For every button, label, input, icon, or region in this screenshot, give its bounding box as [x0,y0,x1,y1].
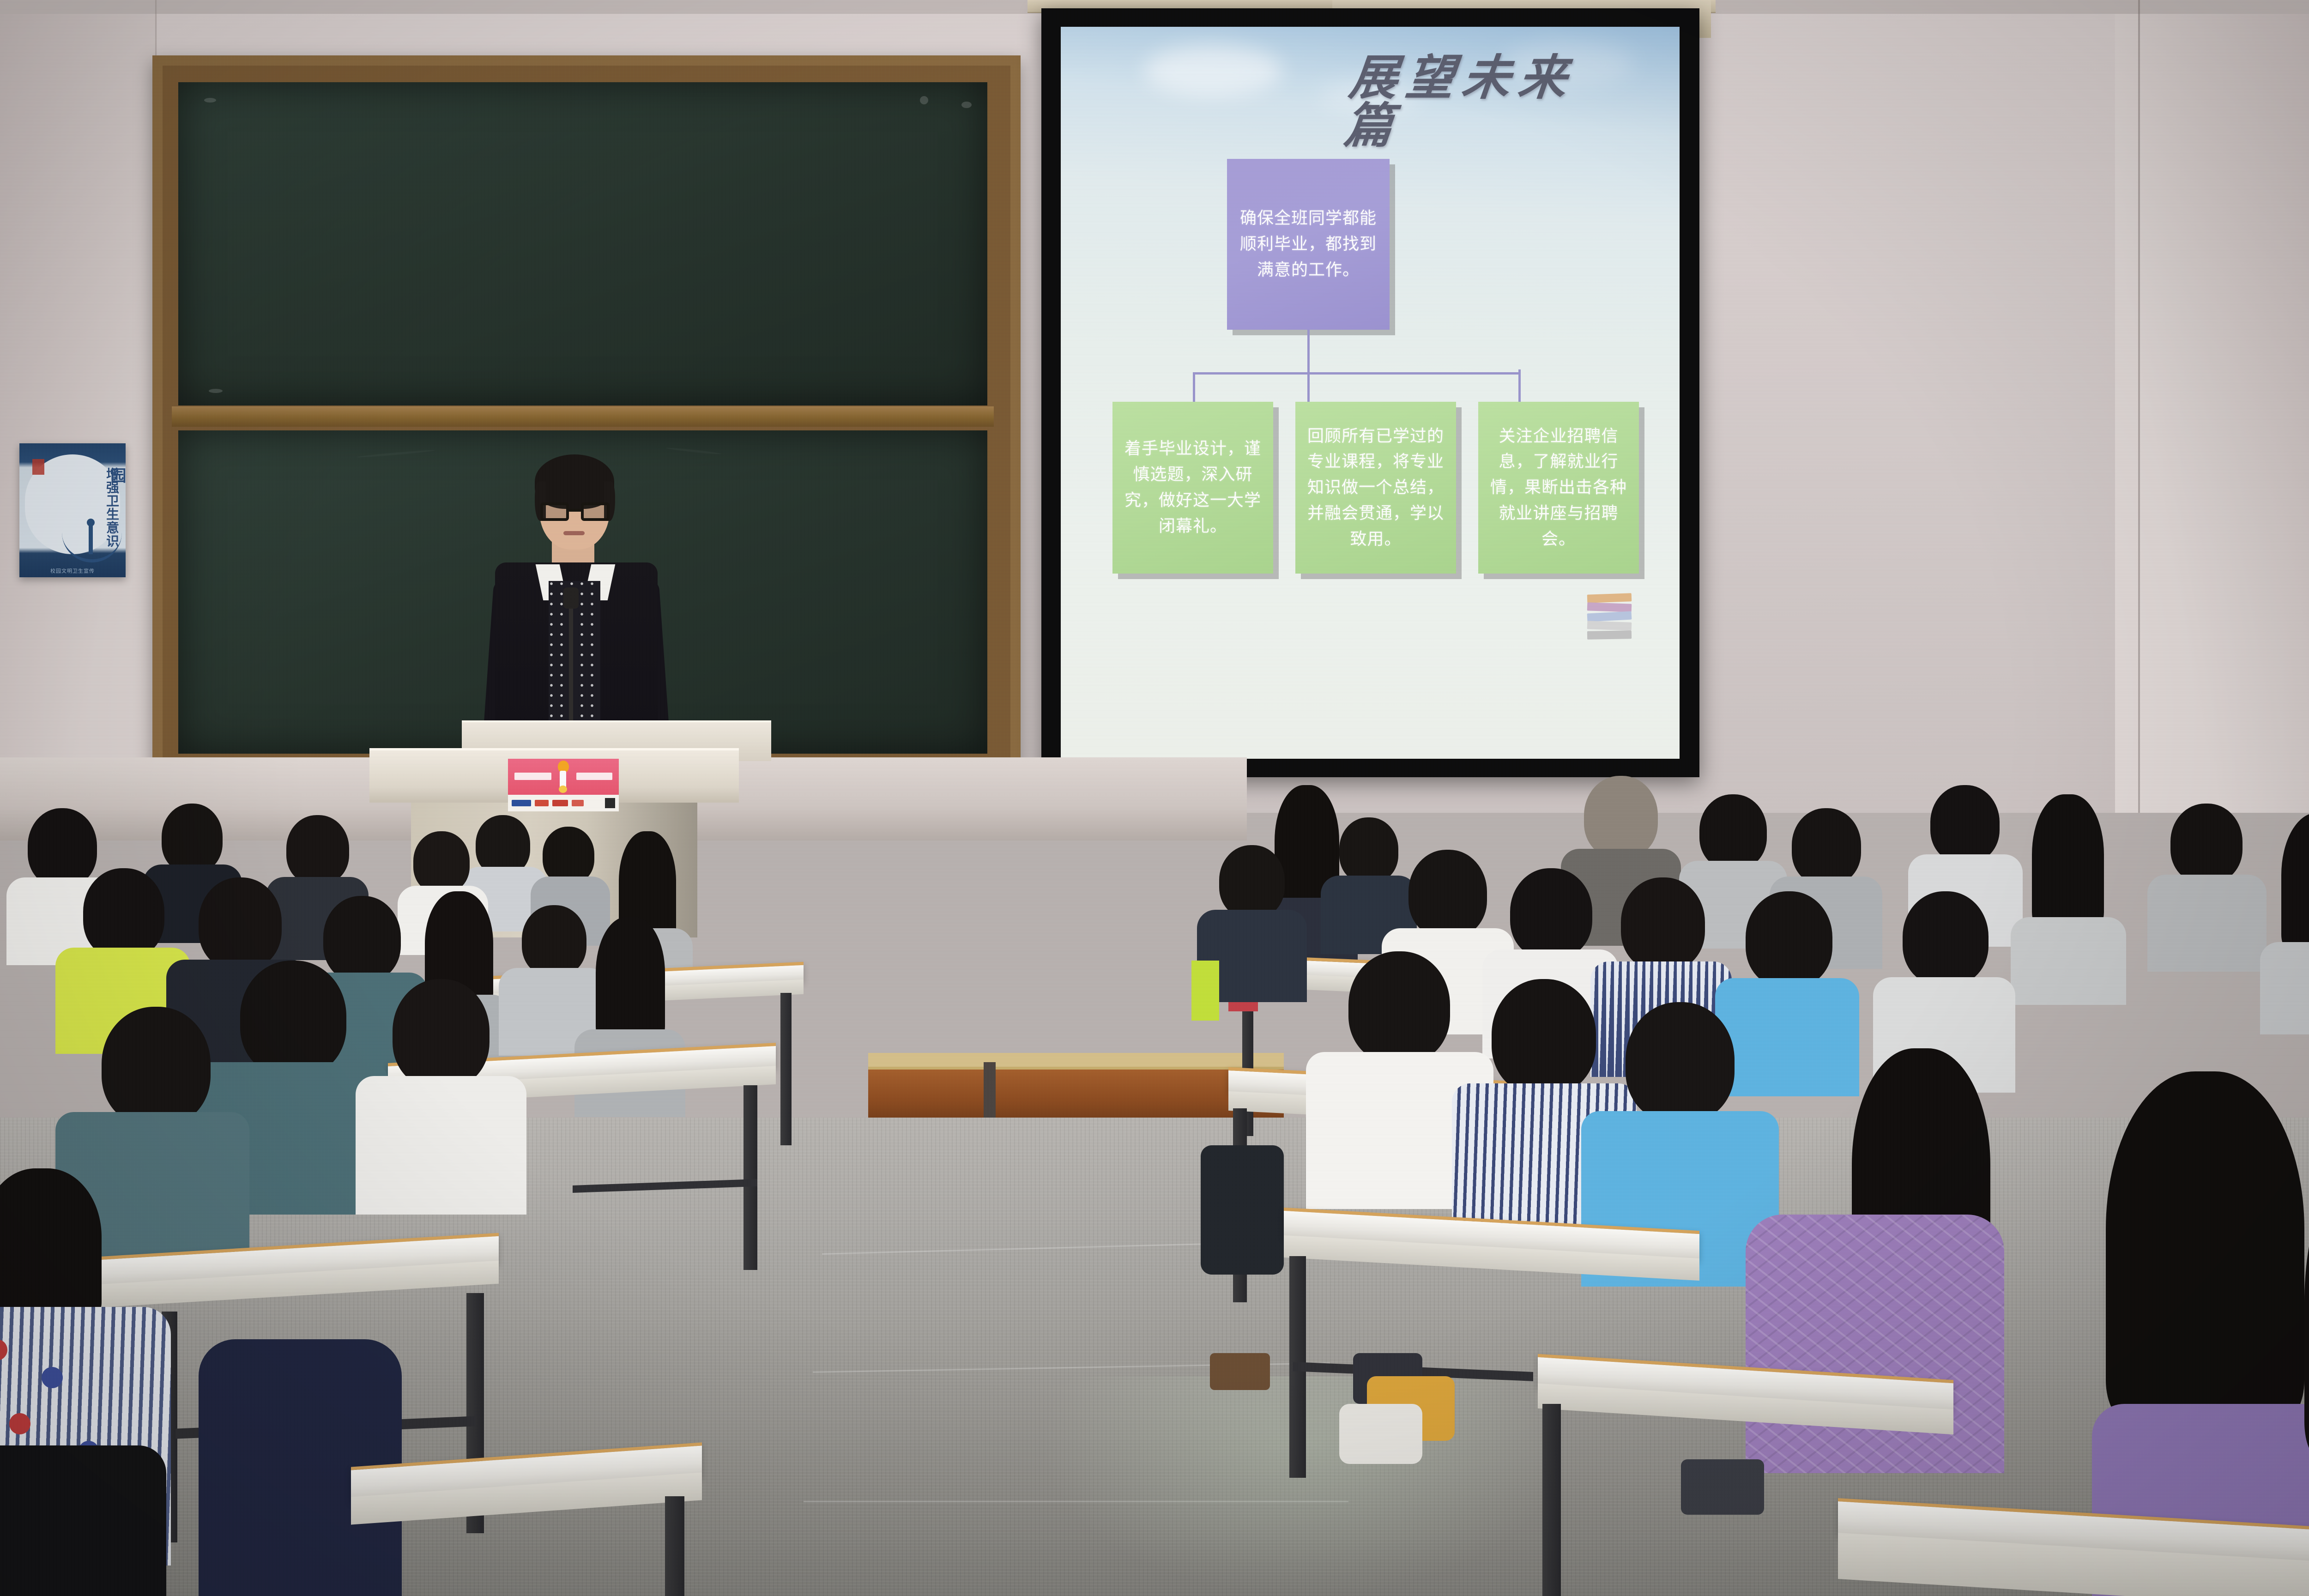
microphone-stem [569,596,573,734]
lecture-hall-scene: 建设文明校园 增强卫生意识 校园文明卫生宣传 展望未来篇 确保全班同学都能顺利毕… [0,0,2309,1596]
head [240,961,346,1076]
shoe-white [1339,1404,1422,1464]
lectern-sponsor-strip [508,795,619,811]
poster-subheadline: 增强卫生意识 [45,467,119,555]
banner-text-left [514,773,551,780]
head [522,905,586,976]
chalk-mark [920,96,928,104]
glasses-bridge [569,509,581,512]
backpack [1201,1145,1284,1275]
slide-child-node-2: 回顾所有已学过的专业课程，将专业知识做一个总结，并融会贯通，学以致用。 [1295,402,1456,574]
desk-leg [780,993,792,1145]
sponsor-chip [535,800,549,806]
head [1621,877,1705,971]
head [476,815,530,875]
lectern-banner [508,759,619,795]
slide-root-node: 确保全班同学都能顺利毕业，都找到满意的工作。 [1227,159,1390,330]
bag-on-floor [1681,1459,1764,1515]
lectern-desktop [369,748,739,803]
head [102,1007,211,1126]
torso [0,1445,166,1596]
wall-seam-right [2138,0,2140,813]
book-layer [1587,630,1632,640]
head [1408,850,1487,937]
sponsor-chip [572,800,584,806]
head [1492,979,1596,1094]
presenter-mouth [563,531,585,535]
desk-leg [743,1085,757,1270]
chalk-mark [209,389,223,393]
presenter-hair [535,454,614,509]
head [286,815,349,884]
shirt-motif [9,1413,30,1434]
cloud-shape [1144,45,1282,96]
projection-screen-surface: 展望未来篇 确保全班同学都能顺利毕业，都找到满意的工作。 着手毕业设计，谨慎选题… [1061,27,1680,759]
stage-panel-divider [984,1062,996,1127]
shirt-motif [42,1367,63,1388]
head [1746,891,1832,987]
torso [356,1076,526,1215]
glasses-lens-left [540,502,569,521]
head [543,827,594,884]
slide-child-node-3: 关注企业招聘信息，了解就业行情，果断出击各种就业讲座与招聘会。 [1478,402,1639,574]
head [1339,817,1398,883]
torso [2260,942,2309,1034]
hair [2106,1071,2304,1422]
hair [0,1168,102,1321]
head [1510,868,1592,959]
slide-title: 展望未来篇 [1342,54,1611,150]
banner-text-right [576,773,612,780]
book-layer [1587,593,1632,603]
qr-code-icon [605,798,615,808]
blackboard-upper-panel [178,82,987,405]
hair [2281,813,2309,951]
book-layer [1587,621,1632,630]
poster-seal-icon [32,459,44,475]
shoe-brown [1210,1353,1270,1390]
book-layer [1587,602,1632,612]
head [1930,785,2000,863]
presenter [471,457,683,734]
connector-drop-left [1193,372,1195,403]
connector-horizontal [1193,372,1521,375]
head [162,804,223,873]
head [1903,891,1989,985]
glasses-lens-right [581,502,610,521]
connector-drop-right [1518,369,1521,403]
head [199,877,282,970]
poster-footer: 校园文明卫生宣传 [19,567,126,574]
torso [1715,978,1859,1096]
head [83,868,164,959]
head [1626,1002,1735,1122]
wall-poster: 建设文明校园 增强卫生意识 校园文明卫生宣传 [19,443,126,577]
head-balding [1584,776,1658,858]
head [2170,804,2243,883]
sponsor-chip [552,800,568,806]
hair [596,917,665,1041]
microphone-head-icon [563,587,579,609]
torch-base-icon [559,786,567,793]
book-stack-icon [1587,594,1632,648]
hair [2032,794,2104,928]
sponsor-chip [512,800,531,806]
head [323,896,401,982]
head [1219,845,1285,918]
right-wall [2115,0,2309,813]
chalk-mark [204,98,216,103]
head [393,979,490,1088]
slide-child-node-1: 着手毕业设计，谨慎选题，深入研究，做好这一大学闭幕礼。 [1112,402,1273,574]
desk-leg [1542,1404,1561,1596]
left-wall [0,0,157,831]
glasses-icon [540,502,610,521]
head [1699,794,1767,869]
head [1792,808,1861,885]
head [1348,951,1450,1063]
torso [2147,875,2267,972]
blackboard-center-rail [172,406,994,427]
stage-kickplate [868,1053,1284,1069]
sleeve-accent [1191,961,1219,1021]
head [28,808,97,887]
desk-leg [665,1496,684,1596]
head [413,831,470,893]
book-layer [1587,611,1632,622]
torso [2011,917,2126,1005]
chalk-mark [961,102,972,108]
sweater-knit-texture [1746,1215,2004,1473]
